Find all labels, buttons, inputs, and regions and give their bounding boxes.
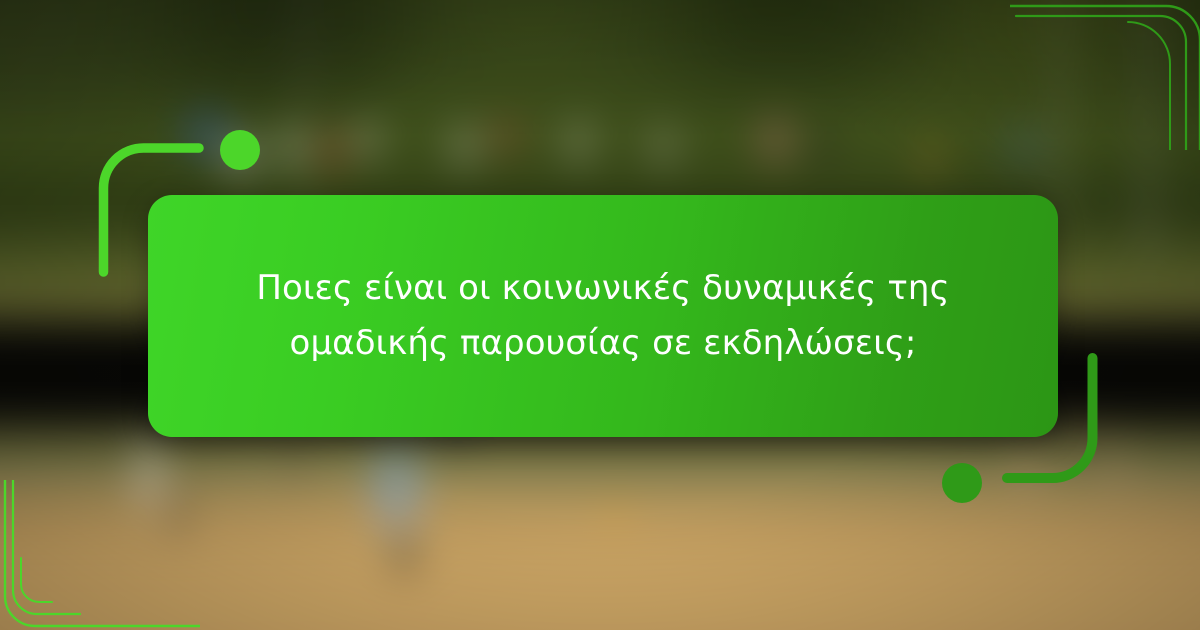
- dot-bottom-right-icon: [942, 463, 982, 503]
- question-card: Ποιες είναι οι κοινωνικές δυναμικές της …: [148, 195, 1058, 437]
- dot-top-left-icon: [220, 130, 260, 170]
- poster-stage: Ποιες είναι οι κοινωνικές δυναμικές της …: [0, 0, 1200, 630]
- question-text: Ποιες είναι οι κοινωνικές δυναμικές της …: [207, 261, 999, 371]
